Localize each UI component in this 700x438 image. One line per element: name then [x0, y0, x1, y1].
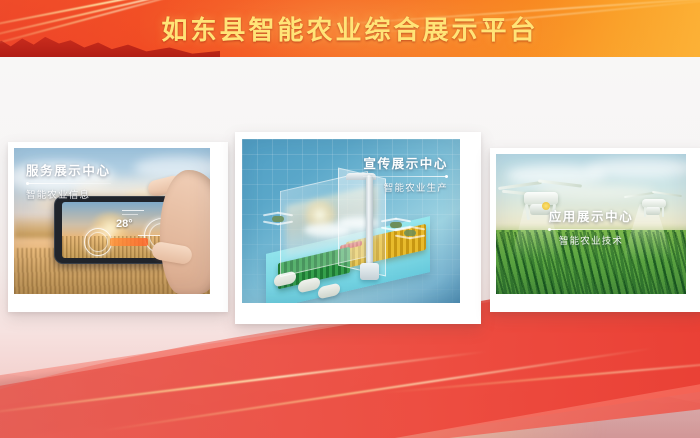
light-pole-base	[360, 263, 379, 280]
hand-holding-phone	[160, 170, 210, 294]
card-promotion-subtitle: 智能农业生产	[363, 180, 448, 194]
hud-line	[122, 210, 144, 211]
drone-icon	[394, 225, 426, 241]
card-application-display-center[interactable]: 应用展示中心 智能农业技术	[490, 148, 700, 312]
card-service-title: 服务展示中心	[26, 160, 111, 179]
card-service-caption: 服务展示中心 智能农业信息	[26, 160, 111, 201]
card-promotion-display-center[interactable]: 宣传展示中心 智能农业生产	[235, 132, 481, 324]
page-title: 如东县智能农业综合展示平台	[0, 0, 700, 57]
hud-temperature: 28°	[116, 218, 133, 230]
cloud-icon	[586, 158, 686, 178]
caption-divider	[548, 229, 634, 230]
card-service-artwork: 28° 服务展示中心 智能农业信息	[14, 148, 210, 294]
card-application-subtitle: 智能农业技术	[496, 233, 686, 247]
caption-divider	[26, 183, 111, 184]
screen: 如东县智能农业综合展示平台	[0, 0, 700, 438]
card-service-display-center[interactable]: 28° 服务展示中心 智能农业信息	[8, 142, 228, 312]
card-promotion-title: 宣传展示中心	[363, 153, 448, 172]
hud-line	[122, 214, 138, 215]
card-application-caption: 应用展示中心 智能农业技术	[496, 206, 686, 247]
card-service-subtitle: 智能农业信息	[26, 187, 111, 201]
card-application-artwork: 应用展示中心 智能农业技术	[496, 154, 686, 294]
caption-divider	[363, 176, 448, 177]
card-promotion-caption: 宣传展示中心 智能农业生产	[363, 153, 448, 194]
hud-ring-left-inner-icon	[88, 232, 108, 252]
card-promotion-artwork: 宣传展示中心 智能农业生产	[242, 139, 460, 303]
drone-icon	[262, 211, 294, 227]
hud-chip	[110, 238, 148, 246]
title-banner: 如东县智能农业综合展示平台	[0, 0, 700, 57]
card-application-title: 应用展示中心	[496, 206, 686, 225]
